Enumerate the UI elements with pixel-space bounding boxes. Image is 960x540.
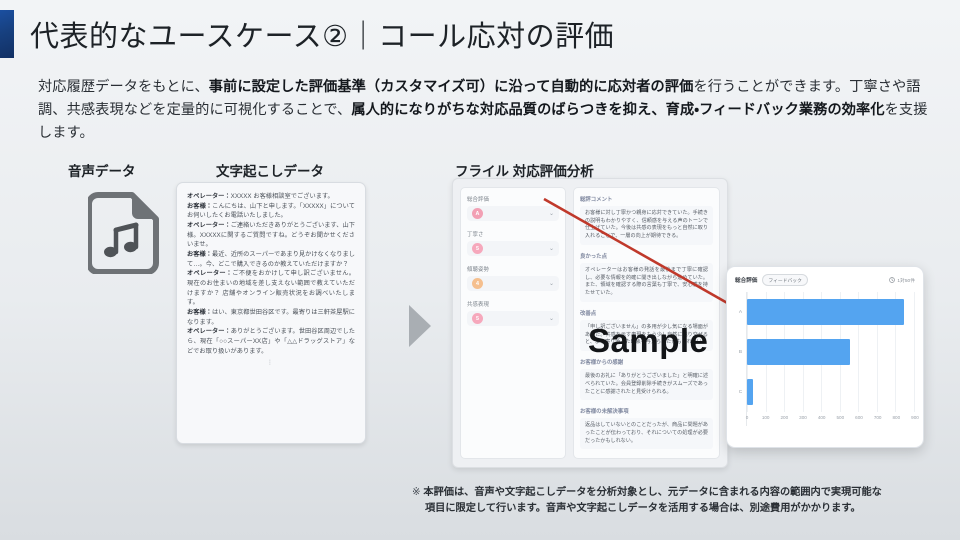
chart-window[interactable]: 総合評価 フィードバック 1対50件 ABC 01002003004005006… [726, 266, 924, 448]
footnote-mark: ※ [412, 487, 421, 498]
caption-audio-data: 音声データ [68, 160, 136, 180]
chart-plot-area: 0100200300400500600700800900 [746, 292, 915, 426]
chart-bar[interactable] [747, 299, 904, 325]
transcript-speaker: お客様： [187, 251, 212, 258]
lead-run-0: 対応履歴データをもとに、 [38, 79, 209, 95]
chart-y-tick: A [739, 310, 742, 315]
chart-x-tick: 700 [874, 415, 882, 420]
transcript-card[interactable]: オペレーター：XXXXX お客様相談室でございます。お客様：こんにちは、山下と申… [176, 182, 366, 444]
chart-bars [747, 292, 915, 412]
grade-badge: 4 [472, 278, 483, 289]
transcript-speaker: お客様： [187, 203, 212, 210]
footnote: ※ 本評価は、音声や文字起こしデータを分析対象とし、元データに含まれる内容の範囲… [412, 485, 942, 517]
transcript-text: 最近、近所のスーパーであまり見かけなくなりまして…。今、どこで購入できるのか教え… [187, 251, 355, 268]
transcript-speaker: お客様： [187, 309, 212, 316]
sample-watermark: Sample [588, 322, 708, 360]
grade-badge: 5 [472, 243, 483, 254]
chart-x-tick: 0 [746, 415, 749, 420]
audio-file-icon [88, 192, 164, 274]
chart-plot: ABC 0100200300400500600700800900 [735, 292, 915, 426]
transcript-line: お客様：こんにちは、山下と申します。「XXXXX」についてお伺いしたくお電話いた… [187, 202, 355, 221]
slide-title-row: 代表的なユースケース②｜コール応対の評価 [0, 8, 960, 60]
chart-meta-text: 1対50件 [897, 277, 915, 284]
chart-x-tick: 500 [836, 415, 844, 420]
chart-x-tick: 800 [892, 415, 900, 420]
chart-x-tick: 400 [818, 415, 826, 420]
chart-y-tick: C [739, 390, 742, 395]
chart-y-axis: ABC [735, 292, 746, 426]
chart-y-tick: B [739, 350, 742, 355]
grade-badge: A [472, 208, 483, 219]
lead-run-3: 属人的になりがちな対応品質のばらつきを抑え、育成・フィードバック業務の効率化 [351, 102, 884, 118]
caption-transcript-data: 文字起こしデータ [216, 160, 324, 180]
footnote-line-2: 項目に限定して行います。音声や文字起こしデータを活用する場合は、別途費用がかかり… [412, 501, 942, 517]
comment-section-title: お客様の未解決事項 [580, 407, 713, 415]
comment-section-body: 最後のお礼に「ありがとうございました」と明確に述べられていた。会員登録削除手続き… [580, 369, 713, 400]
clock-icon [889, 277, 895, 283]
chart-x-tick: 900 [911, 415, 919, 420]
footnote-line-1: 本評価は、音声や文字起こしデータを分析対象とし、元データに含まれる内容の範囲内で… [423, 487, 881, 498]
chart-x-axis: 0100200300400500600700800900 [747, 412, 915, 426]
transcript-speaker: オペレーター： [187, 193, 231, 200]
transcript-continuation-dots: ⋮ [187, 359, 355, 366]
grade-badge: 5 [472, 313, 483, 324]
lead-paragraph: 対応履歴データをもとに、事前に設定した評価基準（カスタマイズ可）に沿って自動的に… [38, 76, 930, 145]
flow-arrow-icon [409, 305, 431, 347]
transcript-text: こんにちは、山下と申します。「XXXXX」についてお伺いしたくお電話いたしました… [187, 203, 355, 220]
transcript-line: オペレーター：ありがとうございます。世田谷区周辺でしたら、現在「○○スーパーXX… [187, 327, 355, 356]
chart-x-tick: 100 [762, 415, 770, 420]
transcript-speaker: オペレーター： [187, 222, 231, 229]
lead-run-1: 事前に設定した評価基準（カスタマイズ可）に沿って自動的に応対者の評価 [209, 79, 694, 95]
chart-header: 総合評価 フィードバック 1対50件 [735, 274, 915, 286]
caption-analysis: フライル 対応評価分析 [455, 160, 594, 180]
chart-meta: 1対50件 [889, 277, 915, 284]
chart-x-tick: 300 [799, 415, 807, 420]
transcript-speaker: オペレーター： [187, 328, 231, 335]
chart-bar[interactable] [747, 379, 753, 405]
transcript-speaker: オペレーター： [187, 270, 232, 277]
transcript-line: お客様：最近、近所のスーパーであまり見かけなくなりまして…。今、どこで購入できる… [187, 250, 355, 269]
title-accent-bar [0, 10, 14, 58]
chart-bar[interactable] [747, 339, 850, 365]
page-title: 代表的なユースケース②｜コール応対の評価 [30, 13, 614, 55]
chart-x-tick: 200 [780, 415, 788, 420]
comment-section-body: 返品はしていないとのことだったが、商品に問題があったことが伝わっており、それにつ… [580, 418, 713, 449]
transcript-line: オペレーター：XXXXX お客様相談室でございます。 [187, 192, 355, 202]
transcript-line: オペレーター：ご不便をおかけして申し訳ございません。現在のお住まいの地域を差し支… [187, 269, 355, 308]
chart-filter-pill[interactable]: フィードバック [762, 274, 807, 286]
transcript-text: はい、東京都世田谷区です。最寄りは三軒茶屋駅になります。 [187, 309, 355, 326]
chart-x-tick: 600 [855, 415, 863, 420]
transcript-text: XXXXX お客様相談室でございます。 [231, 193, 334, 200]
chart-title: 総合評価 [735, 276, 757, 284]
transcript-line: オペレーター：ご連絡いただきありがとうございます、山下様。XXXXXに関するご質… [187, 221, 355, 250]
transcript-line: お客様：はい、東京都世田谷区です。最寄りは三軒茶屋駅になります。 [187, 308, 355, 327]
